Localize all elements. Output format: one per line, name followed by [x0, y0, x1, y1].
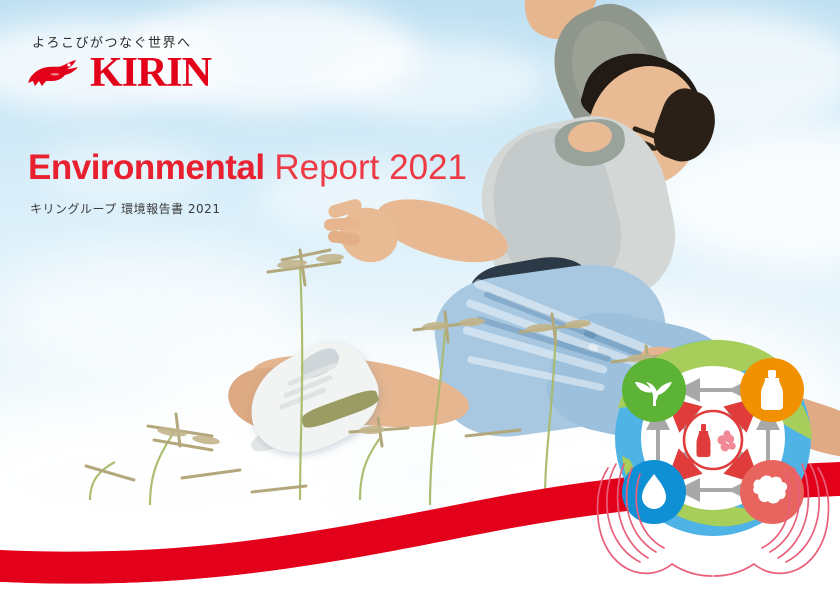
- page-subtitle: キリングループ 環境報告書 2021: [30, 200, 220, 217]
- kirin-wordmark: KIRIN: [90, 52, 211, 94]
- brand-tagline: よろこびがつなぐ世界へ: [32, 32, 192, 51]
- kirin-mythical-beast-icon: [26, 56, 82, 90]
- page-title: Environmental Report 2021: [28, 150, 467, 185]
- title-bold: Environmental: [28, 148, 265, 187]
- kirin-logo-row: KIRIN: [26, 52, 211, 94]
- node-biological-resources: [622, 358, 686, 422]
- node-containers-packaging: [740, 358, 804, 422]
- title-regular: Report 2021: [265, 148, 467, 187]
- kirin-environmental-vision-diagram: [588, 328, 838, 578]
- kirin-logo: よろこびがつなぐ世界へ KIRIN: [14, 14, 264, 86]
- product-center-icon: [684, 411, 742, 469]
- report-cover: よろこびがつなぐ世界へ KIRIN Environmental Report 2…: [0, 0, 840, 594]
